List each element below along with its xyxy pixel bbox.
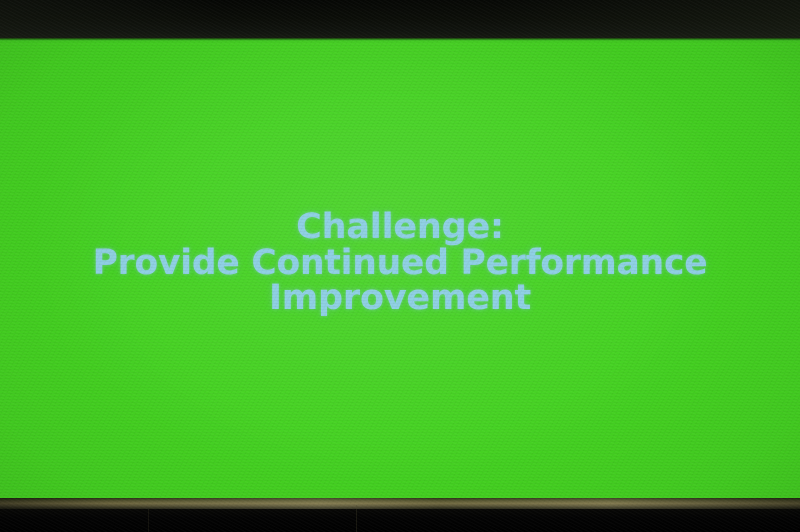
projection-screen: Challenge: Provide Continued Performance… — [0, 38, 800, 502]
wall-sheen — [0, 0, 800, 41]
foreground-seam-center — [356, 505, 357, 532]
wall-above-screen — [0, 0, 800, 41]
slide-photo: Challenge: Provide Continued Performance… — [0, 0, 800, 532]
dark-foreground — [0, 509, 800, 532]
screen-scanlines — [0, 38, 800, 502]
foreground-seam-left — [148, 509, 149, 532]
screen-top-edge-shadow — [0, 38, 800, 42]
